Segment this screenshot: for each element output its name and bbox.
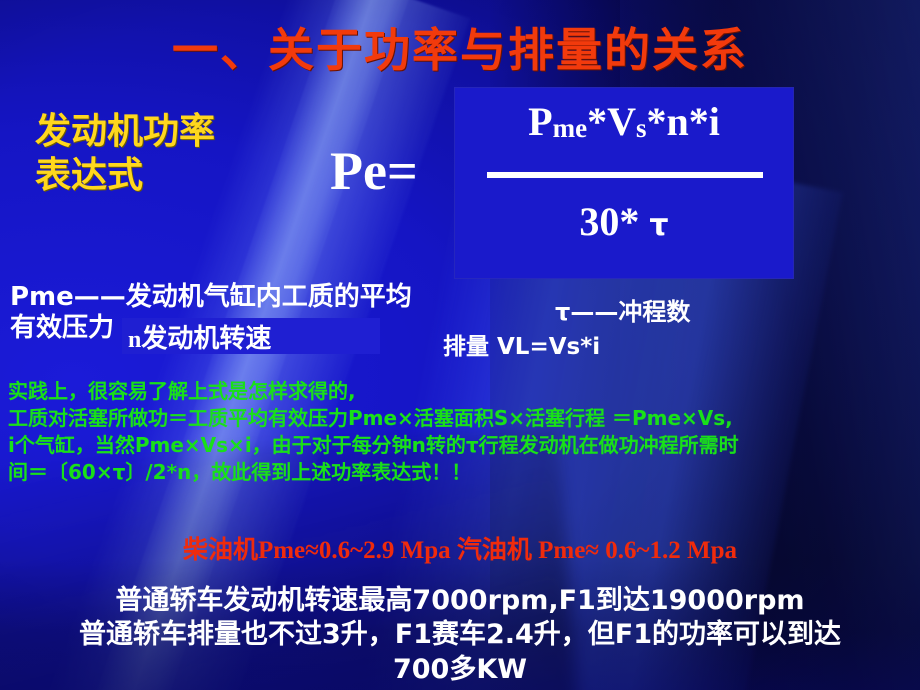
displacement-line-1: 普通轿车排量也不过3升，F1赛车2.4升，但F1的功率可以到达 <box>0 618 920 653</box>
formula-numerator-v: *V <box>587 99 636 144</box>
definition-n-symbol: n <box>128 327 141 353</box>
displacement-line-2: 700多KW <box>0 653 920 688</box>
formula-numerator-me: me <box>553 113 587 143</box>
body-line-2: 工质对活塞所做功＝工质平均有效压力Pme×活塞面积S×活塞行程 ＝Pme×Vs, <box>8 405 768 432</box>
subject-label-line2: 表达式 <box>35 154 215 198</box>
body-line-1: 实践上，很容易了解上式是怎样求得的, <box>8 378 768 405</box>
formula-denominator-tau: τ <box>639 208 668 243</box>
body-line-3: i个气缸，当然Pme×Vs×i，由于对于每分钟n转的τ行程发动机在做功冲程所需时 <box>8 432 768 459</box>
slide-title: 一、关于功率与排量的关系 <box>0 14 920 80</box>
formula-numerator-p: P <box>528 99 552 144</box>
rpm-values-line: 普通轿车发动机转速最高7000rpm,F1到达19000rpm <box>0 578 920 617</box>
pressure-values-line: 柴油机Pme≈0.6~2.9 Mpa 汽油机 Pme≈ 0.6~1.2 Mpa <box>0 530 920 566</box>
formula-fraction-bar <box>487 172 763 178</box>
pe-equals-label: Pe= <box>330 140 418 202</box>
presentation-slide: 一、关于功率与排量的关系 发动机功率 表达式 Pe= Pme*Vs*n*i 30… <box>0 0 920 690</box>
body-paragraph: 实践上，很容易了解上式是怎样求得的, 工质对活塞所做功＝工质平均有效压力Pme×… <box>8 378 768 486</box>
definition-pme-line1: Pme——发动机气缸内工质的平均 <box>10 282 412 313</box>
formula-numerator: Pme*Vs*n*i <box>455 98 793 145</box>
displacement-values-block: 普通轿车排量也不过3升，F1赛车2.4升，但F1的功率可以到达 700多KW <box>0 618 920 687</box>
subject-label-line1: 发动机功率 <box>35 110 215 154</box>
body-line-4: 间＝〔60×τ〕/2*n，故此得到上述功率表达式！！ <box>8 459 768 486</box>
definition-n-text: 发动机转速 <box>141 324 271 354</box>
formula-numerator-ni: *n*i <box>646 99 719 144</box>
formula-denominator: 30*τ <box>455 198 793 245</box>
formula-numerator-s: s <box>636 113 647 143</box>
subject-label: 发动机功率 表达式 <box>35 110 215 198</box>
slide-content: 一、关于功率与排量的关系 发动机功率 表达式 Pe= Pme*Vs*n*i 30… <box>0 0 920 690</box>
formula-denominator-30: 30* <box>579 199 639 244</box>
definition-tau: τ——冲程数 <box>555 292 690 327</box>
formula-box: Pme*Vs*n*i 30*τ <box>455 88 793 278</box>
definition-n: n发动机转速 <box>128 318 271 355</box>
definition-displacement: 排量 VL=Vs*i <box>443 327 600 361</box>
